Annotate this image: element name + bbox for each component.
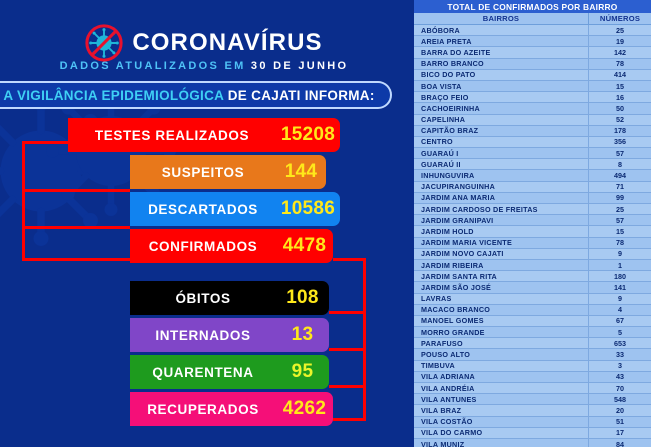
stat-label-recuperados: RECUPERADOS — [130, 392, 276, 426]
table-row: MANOEL GOMES67 — [414, 316, 651, 327]
table-row: JACUPIRANGUINHA71 — [414, 182, 651, 193]
table-cell-numero: 51 — [589, 417, 651, 427]
table-cell-numero: 494 — [589, 170, 651, 180]
table-row: BRAÇO FEIO16 — [414, 92, 651, 103]
table-cell-bairro: JARDIM ANA MARIA — [414, 193, 589, 203]
stat-label-quarentena: QUARENTENA — [130, 355, 276, 389]
update-date-subtitle: DADOS ATUALIZADOS EM 30 DE JUNHO — [0, 60, 408, 72]
table-header-bairros: BAIRROS — [414, 13, 589, 24]
table-cell-numero: 356 — [589, 137, 651, 147]
table-row: CENTRO356 — [414, 137, 651, 148]
table-row: VILA BRAZ20 — [414, 405, 651, 416]
table-row: ABÓBORA25 — [414, 25, 651, 36]
table-cell-bairro: BARRO BRANCO — [414, 59, 589, 69]
table-cell-bairro: JARDIM HOLD — [414, 226, 589, 236]
table-row: JARDIM ANA MARIA99 — [414, 193, 651, 204]
table-cell-numero: 33 — [589, 349, 651, 359]
stat-value-obitos: 108 — [276, 281, 329, 315]
table-cell-bairro: BRAÇO FEIO — [414, 92, 589, 102]
infographic-root: CORONAVÍRUS DADOS ATUALIZADOS EM 30 DE J… — [0, 0, 651, 447]
stat-value-confirmados: 4478 — [276, 229, 333, 263]
table-cell-bairro: BARRA DO AZEITE — [414, 47, 589, 57]
stat-row-suspeitos[interactable]: SUSPEITOS 144 — [0, 155, 408, 189]
table-cell-numero: 67 — [589, 316, 651, 326]
table-cell-bairro: JARDIM SÃO JOSÉ — [414, 282, 589, 292]
stat-value-internados: 13 — [276, 318, 329, 352]
table-row: GUARAÚ II8 — [414, 159, 651, 170]
table-cell-numero: 9 — [589, 249, 651, 259]
table-row: VILA COSTÃO51 — [414, 417, 651, 428]
table-cell-bairro: ABÓBORA — [414, 25, 589, 35]
table-cell-bairro: POUSO ALTO — [414, 349, 589, 359]
table-row: PARAFUSO653 — [414, 338, 651, 349]
table-cell-numero: 3 — [589, 361, 651, 371]
table-row: JARDIM MARIA VICENTE78 — [414, 238, 651, 249]
table-row: JARDIM GRANIPAVI57 — [414, 215, 651, 226]
stat-row-testes[interactable]: TESTES REALIZADOS 15208 — [0, 118, 408, 152]
table-cell-bairro: MANOEL GOMES — [414, 316, 589, 326]
table-row: VILA ADRIANA43 — [414, 372, 651, 383]
table-cell-bairro: JARDIM SANTA RITA — [414, 271, 589, 281]
vigilancia-banner-text: A VIGILÂNCIA EPIDEMIOLÓGICA DE CAJATI IN… — [3, 88, 374, 103]
table-cell-bairro: TIMBUVA — [414, 361, 589, 371]
neighborhood-table-panel: TOTAL DE CONFIRMADOS POR BAIRRO BAIRROS … — [414, 0, 651, 447]
brand-title: CORONAVÍRUS — [132, 31, 322, 55]
vigilancia-highlight: A VIGILÂNCIA EPIDEMIOLÓGICA — [3, 88, 223, 103]
stats-list: TESTES REALIZADOS 15208 SUSPEITOS 144 DE… — [0, 118, 408, 429]
stat-row-quarentena[interactable]: QUARENTENA 95 — [0, 355, 408, 389]
table-cell-numero: 25 — [589, 204, 651, 214]
table-cell-numero: 57 — [589, 148, 651, 158]
table-row: JARDIM SANTA RITA180 — [414, 271, 651, 282]
table-cell-bairro: CAPITÃO BRAZ — [414, 126, 589, 136]
table-row: JARDIM RIBEIRA1 — [414, 260, 651, 271]
brand-row: CORONAVÍRUS — [0, 23, 408, 63]
table-row: POUSO ALTO33 — [414, 349, 651, 360]
table-cell-numero: 99 — [589, 193, 651, 203]
stat-label-internados: INTERNADOS — [130, 318, 276, 352]
stat-label-suspeitos: SUSPEITOS — [130, 155, 276, 189]
table-cell-numero: 141 — [589, 282, 651, 292]
table-row: VILA ANDRÉIA70 — [414, 383, 651, 394]
table-cell-numero: 142 — [589, 47, 651, 57]
stat-label-obitos: ÓBITOS — [130, 281, 276, 315]
table-row: MACACO BRANCO4 — [414, 305, 651, 316]
table-cell-bairro: VILA ANTUNES — [414, 394, 589, 404]
table-cell-bairro: CACHOEIRINHA — [414, 103, 589, 113]
subtitle-prefix: DADOS ATUALIZADOS EM — [60, 60, 251, 72]
table-cell-numero: 8 — [589, 159, 651, 169]
stat-value-suspeitos: 144 — [276, 155, 326, 189]
table-cell-numero: 70 — [589, 383, 651, 393]
stat-row-descartados[interactable]: DESCARTADOS 10586 — [0, 192, 408, 226]
stat-row-obitos[interactable]: ÓBITOS 108 — [0, 281, 408, 315]
table-cell-numero: 78 — [589, 59, 651, 69]
table-cell-bairro: MORRO GRANDE — [414, 327, 589, 337]
table-cell-numero: 1 — [589, 260, 651, 270]
stat-label-testes: TESTES REALIZADOS — [68, 118, 276, 152]
table-cell-numero: 178 — [589, 126, 651, 136]
table-row: CAPITÃO BRAZ178 — [414, 126, 651, 137]
stat-row-recuperados[interactable]: RECUPERADOS 4262 — [0, 392, 408, 426]
table-row: VILA ANTUNES548 — [414, 394, 651, 405]
table-row: BOA VISTA15 — [414, 81, 651, 92]
table-cell-bairro: VILA COSTÃO — [414, 417, 589, 427]
table-cell-numero: 180 — [589, 271, 651, 281]
table-row: JARDIM CARDOSO DE FREITAS25 — [414, 204, 651, 215]
table-cell-numero: 20 — [589, 405, 651, 415]
table-cell-numero: 52 — [589, 115, 651, 125]
table-cell-numero: 25 — [589, 25, 651, 35]
table-cell-numero: 15 — [589, 81, 651, 91]
table-cell-bairro: JARDIM GRANIPAVI — [414, 215, 589, 225]
table-cell-bairro: VILA ADRIANA — [414, 372, 589, 382]
table-cell-numero: 15 — [589, 226, 651, 236]
table-row: GUARAÚ I57 — [414, 148, 651, 159]
table-row: VILA DO CARMO17 — [414, 428, 651, 439]
table-cell-bairro: VILA BRAZ — [414, 405, 589, 415]
table-cell-numero: 17 — [589, 428, 651, 438]
table-cell-bairro: CENTRO — [414, 137, 589, 147]
stat-value-descartados: 10586 — [276, 192, 340, 226]
stat-row-internados[interactable]: INTERNADOS 13 — [0, 318, 408, 352]
table-cell-bairro: VILA ANDRÉIA — [414, 383, 589, 393]
table-cell-bairro: PARAFUSO — [414, 338, 589, 348]
table-cell-bairro: BICO DO PATO — [414, 70, 589, 80]
table-cell-bairro: GUARAÚ II — [414, 159, 589, 169]
table-cell-numero: 84 — [589, 439, 651, 447]
left-panel: CORONAVÍRUS DADOS ATUALIZADOS EM 30 DE J… — [0, 0, 408, 447]
table-row: MORRO GRANDE5 — [414, 327, 651, 338]
table-row: VILA MUNIZ84 — [414, 439, 651, 447]
table-cell-numero: 5 — [589, 327, 651, 337]
table-row: BICO DO PATO414 — [414, 70, 651, 81]
table-cell-bairro: INHUNGUVIRA — [414, 170, 589, 180]
vigilancia-rest: DE CAJATI INFORMA: — [224, 88, 375, 103]
table-cell-bairro: JARDIM RIBEIRA — [414, 260, 589, 270]
vigilancia-banner: A VIGILÂNCIA EPIDEMIOLÓGICA DE CAJATI IN… — [0, 81, 392, 109]
table-cell-numero: 50 — [589, 103, 651, 113]
table-cell-bairro: JARDIM NOVO CAJATI — [414, 249, 589, 259]
stat-label-confirmados: CONFIRMADOS — [130, 229, 276, 263]
table-cell-bairro: CAPELINHA — [414, 115, 589, 125]
table-cell-numero: 78 — [589, 238, 651, 248]
stat-value-recuperados: 4262 — [276, 392, 333, 426]
table-cell-bairro: JACUPIRANGUINHA — [414, 182, 589, 192]
table-cell-bairro: AREIA PRETA — [414, 36, 589, 46]
table-cell-bairro: VILA MUNIZ — [414, 439, 589, 447]
table-row: JARDIM SÃO JOSÉ141 — [414, 282, 651, 293]
table-row: CACHOEIRINHA50 — [414, 103, 651, 114]
table-row: LAVRAS9 — [414, 294, 651, 305]
table-cell-numero: 9 — [589, 294, 651, 304]
stat-value-testes: 15208 — [276, 118, 340, 152]
table-row: CAPELINHA52 — [414, 115, 651, 126]
table-row: JARDIM HOLD15 — [414, 226, 651, 237]
stat-value-quarentena: 95 — [276, 355, 329, 389]
table-cell-bairro: GUARAÚ I — [414, 148, 589, 158]
table-row: AREIA PRETA19 — [414, 36, 651, 47]
table-cell-bairro: JARDIM CARDOSO DE FREITAS — [414, 204, 589, 214]
table-body: ABÓBORA25AREIA PRETA19BARRA DO AZEITE142… — [414, 25, 651, 447]
stat-label-descartados: DESCARTADOS — [130, 192, 276, 226]
table-row: BARRO BRANCO78 — [414, 59, 651, 70]
table-cell-numero: 43 — [589, 372, 651, 382]
table-row: JARDIM NOVO CAJATI9 — [414, 249, 651, 260]
table-header-numeros: NÚMEROS — [589, 13, 651, 24]
table-row: BARRA DO AZEITE142 — [414, 47, 651, 58]
table-header-row: BAIRROS NÚMEROS — [414, 13, 651, 25]
table-cell-bairro: BOA VISTA — [414, 81, 589, 91]
table-cell-numero: 57 — [589, 215, 651, 225]
table-cell-numero: 19 — [589, 36, 651, 46]
subtitle-date: 30 DE JUNHO — [251, 60, 348, 72]
table-title: TOTAL DE CONFIRMADOS POR BAIRRO — [414, 0, 651, 13]
coronavirus-prohibited-icon — [85, 24, 123, 62]
table-cell-numero: 16 — [589, 92, 651, 102]
table-cell-numero: 4 — [589, 305, 651, 315]
table-cell-numero: 548 — [589, 394, 651, 404]
table-cell-numero: 414 — [589, 70, 651, 80]
table-cell-bairro: JARDIM MARIA VICENTE — [414, 238, 589, 248]
table-cell-bairro: LAVRAS — [414, 294, 589, 304]
table-cell-bairro: VILA DO CARMO — [414, 428, 589, 438]
table-row: INHUNGUVIRA494 — [414, 170, 651, 181]
table-cell-numero: 71 — [589, 182, 651, 192]
table-cell-bairro: MACACO BRANCO — [414, 305, 589, 315]
table-row: TIMBUVA3 — [414, 361, 651, 372]
table-cell-numero: 653 — [589, 338, 651, 348]
stat-row-confirmados[interactable]: CONFIRMADOS 4478 — [0, 229, 408, 263]
